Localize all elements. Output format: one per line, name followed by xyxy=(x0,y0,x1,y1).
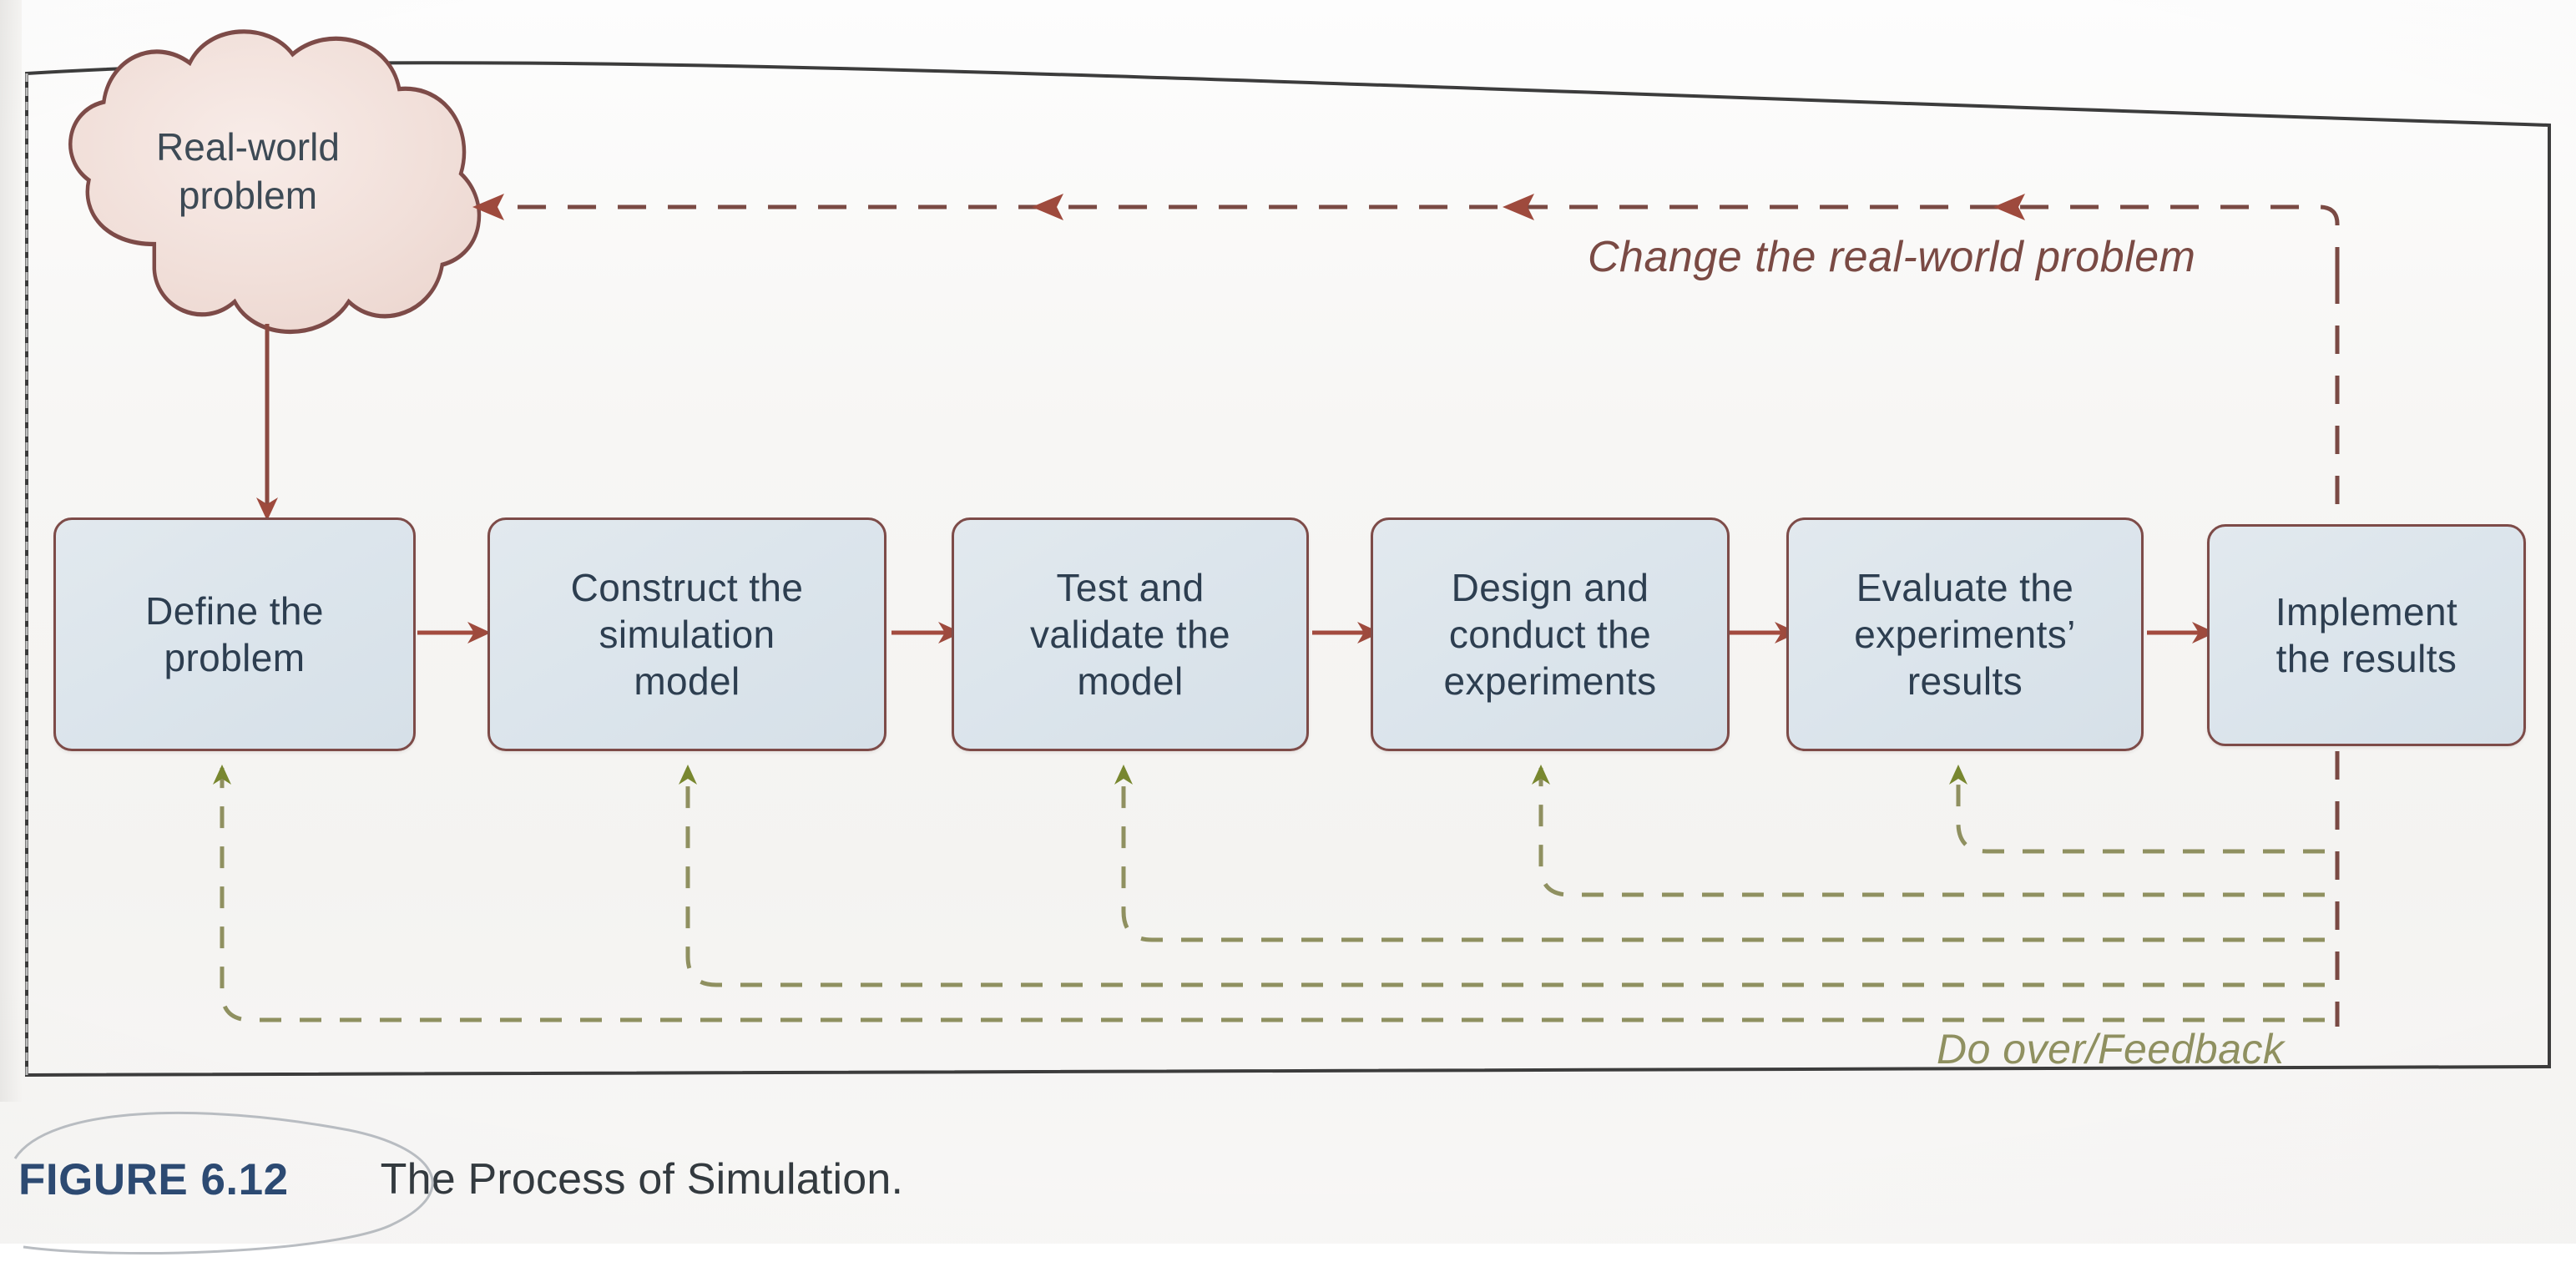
process-box-implement-line-1: Implement xyxy=(2275,588,2457,635)
process-box-construct-line-2: simulation xyxy=(571,611,804,658)
process-box-design-line-2: conduct the xyxy=(1444,611,1657,658)
real-world-problem-node: Real-world problem xyxy=(23,22,457,322)
process-box-design-line-3: experiments xyxy=(1444,658,1657,704)
process-box-test-line-1: Test and xyxy=(1030,564,1230,611)
process-box-construct[interactable]: Construct the simulation model xyxy=(487,517,886,751)
process-box-evaluate-line-1: Evaluate the xyxy=(1854,564,2076,611)
process-box-define-line-2: problem xyxy=(145,634,324,681)
figure-caption-text: The Process of Simulation. xyxy=(381,1154,904,1204)
process-box-evaluate-line-3: results xyxy=(1854,658,2076,704)
process-box-evaluate[interactable]: Evaluate the experiments’ results xyxy=(1786,517,2144,751)
process-box-define-line-1: Define the xyxy=(145,588,324,634)
process-box-construct-line-1: Construct the xyxy=(571,564,804,611)
figure-page: Real-world problem Define the problem Co… xyxy=(0,0,2576,1244)
cloud-label-line2: problem xyxy=(179,172,317,220)
process-box-implement-line-2: the results xyxy=(2275,635,2457,682)
process-box-design-line-1: Design and xyxy=(1444,564,1657,611)
process-box-test[interactable]: Test and validate the model xyxy=(952,517,1309,751)
feedback-loop-label: Do over/Feedback xyxy=(1937,1025,2285,1073)
figure-caption: FIGURE 6.12 The Process of Simulation. xyxy=(18,1133,1688,1225)
process-box-implement[interactable]: Implement the results xyxy=(2207,524,2526,746)
process-box-define[interactable]: Define the problem xyxy=(53,517,416,751)
process-box-design[interactable]: Design and conduct the experiments xyxy=(1371,517,1730,751)
process-box-evaluate-line-2: experiments’ xyxy=(1854,611,2076,658)
process-box-construct-line-3: model xyxy=(571,658,804,704)
feedback-loop-paths xyxy=(222,768,2325,1020)
cloud-label-line1: Real-world xyxy=(156,124,340,172)
figure-number: FIGURE 6.12 xyxy=(18,1154,289,1205)
cloud-label: Real-world problem xyxy=(23,22,457,322)
change-loop-label: Change the real-world problem xyxy=(1588,232,2195,282)
process-box-test-line-2: validate the xyxy=(1030,611,1230,658)
process-box-test-line-3: model xyxy=(1030,658,1230,704)
